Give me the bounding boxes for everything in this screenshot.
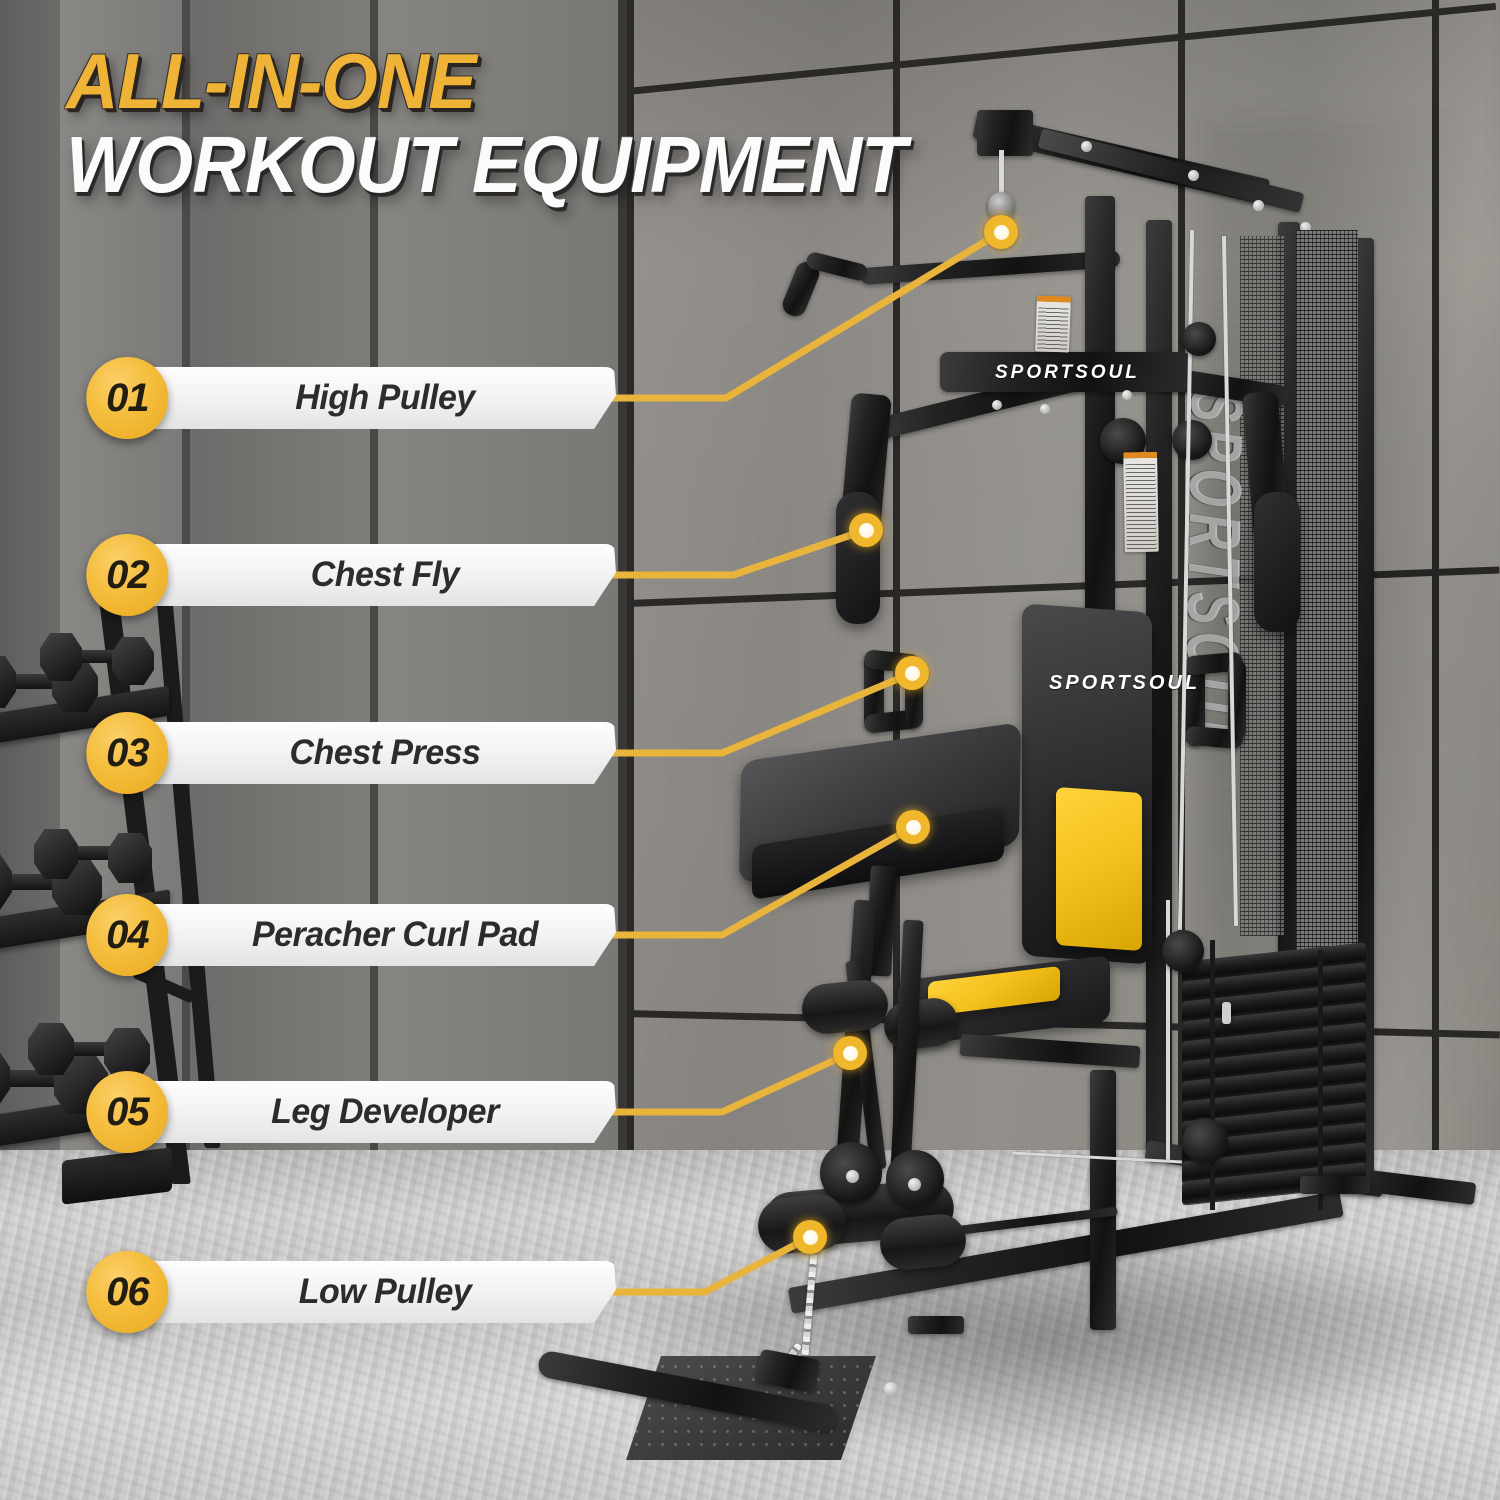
marker-dot-low-pulley	[793, 1220, 827, 1254]
callout-label-06: Low Pulley	[186, 1272, 584, 1312]
machine-foot	[1300, 1176, 1370, 1194]
top-frame-bracket	[977, 110, 1033, 156]
seat-back-accent	[1056, 787, 1142, 951]
leg-developer-roller-upper	[800, 978, 891, 1037]
frame-bolt	[1253, 200, 1264, 211]
frame-bolt	[1188, 170, 1199, 181]
weight-stack-guide-rod	[1210, 940, 1215, 1210]
callout-badge-04: 04	[86, 894, 168, 976]
base-frame-rail	[1090, 1070, 1116, 1330]
bar-end-cap	[884, 1382, 898, 1396]
callout-05[interactable]: 05 Leg Developer	[106, 1081, 616, 1143]
machine-foot	[908, 1316, 964, 1334]
cable-pulley	[1182, 1118, 1228, 1164]
callout-badge-03: 03	[86, 712, 168, 794]
callout-badge-05: 05	[86, 1071, 168, 1153]
marker-dot-high-pulley	[984, 215, 1018, 249]
frame-bolt	[992, 400, 1002, 410]
cable-pulley	[1162, 930, 1204, 972]
callout-03[interactable]: 03 Chest Press	[106, 722, 616, 784]
frame-bolt	[1040, 404, 1050, 414]
weight-stack-selector-pin	[1222, 1002, 1231, 1024]
marker-dot-preacher-curl-pad	[896, 810, 930, 844]
callout-06[interactable]: 06 Low Pulley	[106, 1261, 616, 1323]
frame-bolt	[1081, 141, 1092, 152]
callout-badge-06: 06	[86, 1251, 168, 1333]
callout-badge-02: 02	[86, 534, 168, 616]
frame-bolt	[1122, 390, 1132, 400]
cable-pulley	[1182, 322, 1216, 356]
callout-plate-02[interactable]: Chest Fly	[106, 544, 616, 606]
callout-badge-01: 01	[86, 357, 168, 439]
fly-arm-pivot	[1172, 420, 1212, 460]
callout-label-05: Leg Developer	[186, 1092, 584, 1132]
callout-04[interactable]: 04 Peracher Curl Pad	[106, 904, 616, 966]
brand-decal-seat-back: SPORTSOUL	[1049, 672, 1200, 695]
base-frame-crossbar	[959, 1034, 1140, 1069]
seat-front-roller	[881, 995, 961, 1053]
marker-dot-chest-press	[895, 656, 929, 690]
callout-label-04: Peracher Curl Pad	[194, 915, 596, 955]
lat-pulldown-bar	[860, 250, 1121, 285]
callout-plate-05[interactable]: Leg Developer	[106, 1081, 616, 1143]
chest-fly-grip-pad	[836, 492, 880, 624]
top-frame-beam	[1038, 128, 1305, 213]
callout-label-02: Chest Fly	[186, 555, 584, 595]
callout-plate-03[interactable]: Chest Press	[106, 722, 616, 784]
marker-dot-leg-developer	[833, 1036, 867, 1070]
frame-bolt	[846, 1170, 859, 1183]
marker-dot-chest-fly	[849, 513, 883, 547]
callout-plate-06[interactable]: Low Pulley	[106, 1261, 616, 1323]
callout-label-03: Chest Press	[186, 733, 584, 773]
callout-plate-04[interactable]: Peracher Curl Pad	[106, 904, 616, 966]
weight-stack-guard-mesh	[1296, 230, 1358, 955]
infographic-canvas: ALL-IN-ONE WORKOUT EQUIPMENT	[0, 0, 1500, 1500]
callout-01[interactable]: 01 High Pulley	[106, 367, 616, 429]
chest-fly-grip-pad	[1254, 492, 1300, 632]
callout-02[interactable]: 02 Chest Fly	[106, 544, 616, 606]
callout-plate-01[interactable]: High Pulley	[106, 367, 616, 429]
warning-label	[1035, 295, 1071, 352]
frame-bolt	[908, 1178, 921, 1191]
brand-decal-crossbar: SPORTSOUL	[995, 362, 1140, 384]
callout-label-01: High Pulley	[186, 378, 584, 418]
weight-stack-guide-rod	[1318, 950, 1323, 1210]
warning-label	[1123, 452, 1159, 553]
